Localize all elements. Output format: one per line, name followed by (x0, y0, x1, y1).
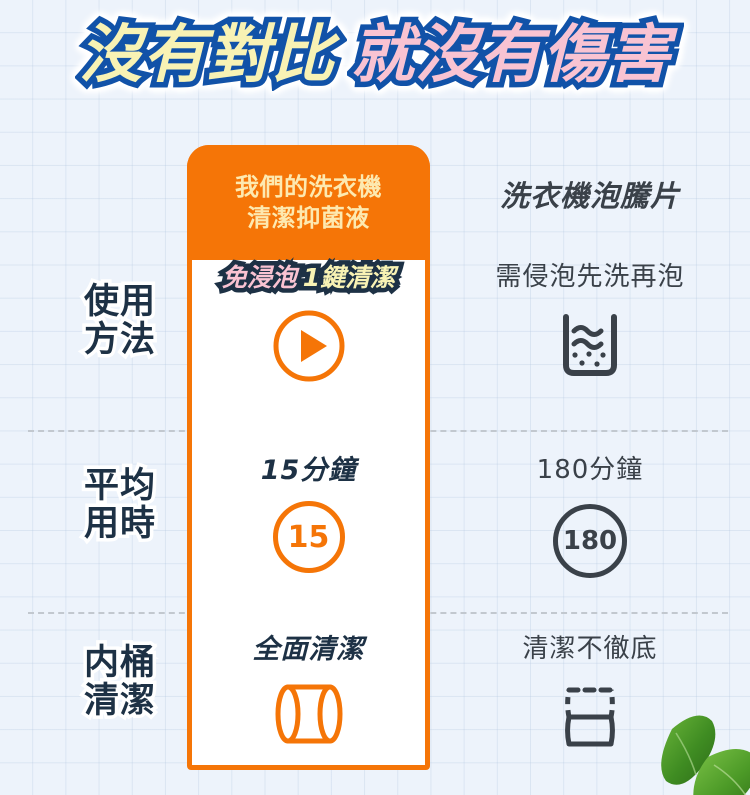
competitor-column-header: 洗衣機泡騰片 (440, 173, 740, 215)
our-product-header-line2: 清潔抑菌液 (235, 203, 382, 234)
ours-cell-drum-cleaning: 全面清潔 (187, 634, 430, 748)
soaking-basin-icon (440, 311, 740, 381)
row-label-usage-method: 使用 方法 (56, 284, 184, 360)
ours-cell-usage-method: 免浸泡 1鍵清潔 (187, 262, 430, 385)
competitor-time-text: 180分鐘 (440, 455, 740, 486)
row-label-line2: 方法 (56, 322, 184, 360)
row-label-line2: 清潔 (56, 683, 184, 721)
competitor-drum-text: 清潔不徹底 (440, 634, 740, 665)
row-label-average-time: 平均 用時 (56, 468, 184, 544)
comparison-infographic: 沒有對比就沒有傷害 使用 方法 平均 用時 内桶 清潔 我們的洗衣機 清潔抑菌液… (0, 0, 750, 795)
row-label-line2: 用時 (56, 506, 184, 544)
competitor-cell-average-time: 180分鐘 180 (440, 455, 740, 578)
ours-cell-average-time: 15分鐘 15 (187, 455, 430, 573)
badge-no-soak: 免浸泡 (222, 262, 297, 293)
row-label-line1: 平均 (56, 468, 184, 506)
ours-badge-row: 免浸泡 1鍵清潔 (187, 262, 430, 293)
time-circle-icon: 180 (440, 504, 740, 578)
page-title: 沒有對比就沒有傷害 (0, 22, 750, 88)
ours-time-text: 15分鐘 (187, 455, 430, 487)
competitor-cell-usage-method: 需侵泡先洗再泡 (440, 262, 740, 381)
our-product-card-header-text: 我們的洗衣機 清潔抑菌液 (235, 172, 382, 233)
ours-time-bubble-value: 15 (273, 501, 345, 573)
play-circle-icon (187, 307, 430, 385)
row-label-line1: 使用 (56, 284, 184, 322)
ours-drum-text: 全面清潔 (187, 634, 430, 666)
row-label-line1: 内桶 (56, 645, 184, 683)
page-title-part1: 沒有對比 (79, 22, 335, 88)
time-circle-icon: 15 (187, 501, 430, 573)
competitor-usage-text: 需侵泡先洗再泡 (440, 262, 740, 293)
competitor-time-bubble-value: 180 (553, 504, 627, 578)
our-product-card-header: 我們的洗衣機 清潔抑菌液 (187, 145, 430, 260)
drum-solid-icon (187, 680, 430, 748)
row-label-drum-cleaning: 内桶 清潔 (56, 645, 184, 721)
page-title-part2: 就沒有傷害 (351, 22, 671, 88)
badge-one-key-clean: 1鍵清潔 (303, 262, 395, 293)
our-product-header-line1: 我們的洗衣機 (235, 172, 382, 203)
competitor-cell-drum-cleaning: 清潔不徹底 (440, 634, 740, 751)
drum-dashed-icon (440, 683, 740, 751)
